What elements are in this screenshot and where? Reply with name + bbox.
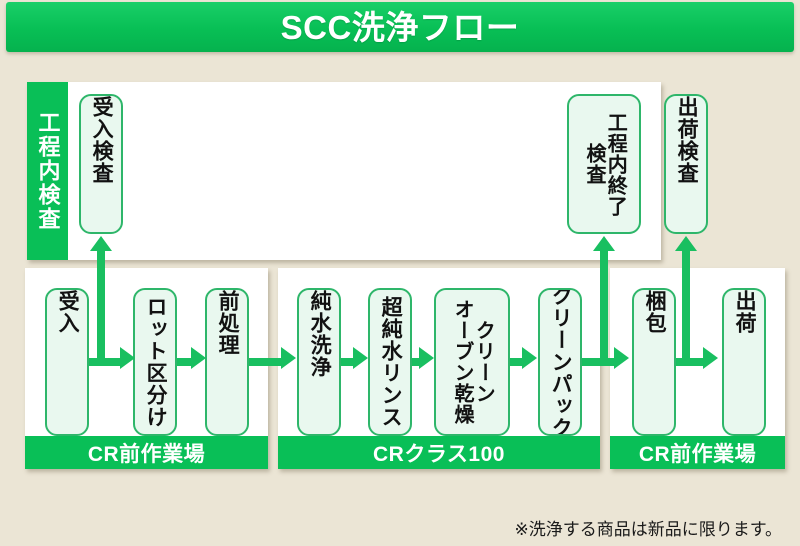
node-process-completion-inspection-label-secondary: 検査 (583, 143, 604, 185)
node-receiving-label: 受入 (56, 290, 78, 434)
arrowhead-lot-sorting-to-pre-treatment (191, 347, 206, 369)
node-shipping[interactable]: 出荷 (722, 288, 766, 436)
arrowhead-clean-pack-to-packing (614, 347, 629, 369)
inspection-band: 工程内検査 (27, 82, 68, 260)
arrowhead-pure-water-wash-to-ultrapure-water-rinse (353, 347, 368, 369)
node-shipping-inspection-label: 出荷検査 (675, 96, 697, 232)
node-pure-water-wash-label: 純水洗浄 (308, 290, 330, 434)
arrowhead-pre-treatment-to-pure-water-wash (281, 347, 296, 369)
node-ultrapure-water-rinse[interactable]: 超純水リンス (368, 288, 412, 436)
node-receiving-inspection[interactable]: 受入検査 (79, 94, 123, 234)
footnote: ※洗浄する商品は新品に限ります。 (514, 515, 782, 540)
node-clean-oven-dry[interactable]: オーブン乾燥 クリーン (434, 288, 510, 436)
group-pre-cr-work-area-1-label: CR前作業場 (25, 436, 268, 469)
diagram-canvas: SCC洗浄フロー 工程内検査 受入検査 検査 工程内終了 出荷検査 CR前作業場… (0, 0, 800, 546)
node-clean-pack-label: クリーンパック (549, 288, 571, 436)
connector-clean-pack-to-packing (582, 358, 616, 366)
node-process-completion-inspection[interactable]: 検査 工程内終了 (567, 94, 641, 234)
arrowhead-clean-oven-dry-to-clean-pack (522, 347, 537, 369)
node-process-completion-inspection-label-primary: 工程内終了 (604, 112, 625, 217)
group-cr-class-100-label: CRクラス100 (278, 436, 600, 469)
node-receiving[interactable]: 受入 (45, 288, 89, 436)
connector-clean-pack-to-process-completion-inspection (600, 249, 608, 361)
node-ultrapure-water-rinse-label: 超純水リンス (379, 296, 401, 428)
arrowhead-packing-to-shipping (703, 347, 718, 369)
node-shipping-label: 出荷 (733, 290, 755, 434)
node-shipping-inspection[interactable]: 出荷検査 (664, 94, 708, 234)
group-pre-cr-work-area-2-label: CR前作業場 (610, 436, 785, 469)
node-packing-label: 梱包 (643, 290, 665, 434)
node-clean-oven-dry-label-primary: クリーン (472, 320, 493, 404)
node-lot-sorting[interactable]: ロット区分け (133, 288, 177, 436)
node-pre-treatment-label: 前処理 (216, 290, 238, 434)
node-clean-pack[interactable]: クリーンパック (538, 288, 582, 436)
arrowhead-ultrapure-water-rinse-to-clean-oven-dry (419, 347, 434, 369)
arrowhead-clean-pack-to-process-completion-inspection (593, 236, 615, 251)
inspection-band-label: 工程内検査 (37, 111, 59, 231)
arrowhead-packing-to-shipping-inspection (675, 236, 697, 251)
node-pure-water-wash[interactable]: 純水洗浄 (297, 288, 341, 436)
arrowhead-receiving-to-receiving-inspection (90, 236, 112, 251)
connector-packing-to-shipping-inspection (682, 249, 690, 361)
node-clean-oven-dry-label-secondary: オーブン乾燥 (451, 299, 472, 425)
node-receiving-inspection-label: 受入検査 (90, 96, 112, 232)
title-banner: SCC洗浄フロー (6, 2, 794, 52)
page-title: SCC洗浄フロー (281, 11, 520, 44)
node-pre-treatment[interactable]: 前処理 (205, 288, 249, 436)
connector-receiving-to-receiving-inspection (97, 249, 105, 361)
node-packing[interactable]: 梱包 (632, 288, 676, 436)
node-lot-sorting-label: ロット区分け (144, 296, 166, 428)
connector-receiving-to-lot-sorting (89, 358, 123, 366)
connector-pre-treatment-to-pure-water-wash (249, 358, 283, 366)
connector-packing-to-shipping (676, 358, 706, 366)
arrowhead-receiving-to-lot-sorting (120, 347, 135, 369)
